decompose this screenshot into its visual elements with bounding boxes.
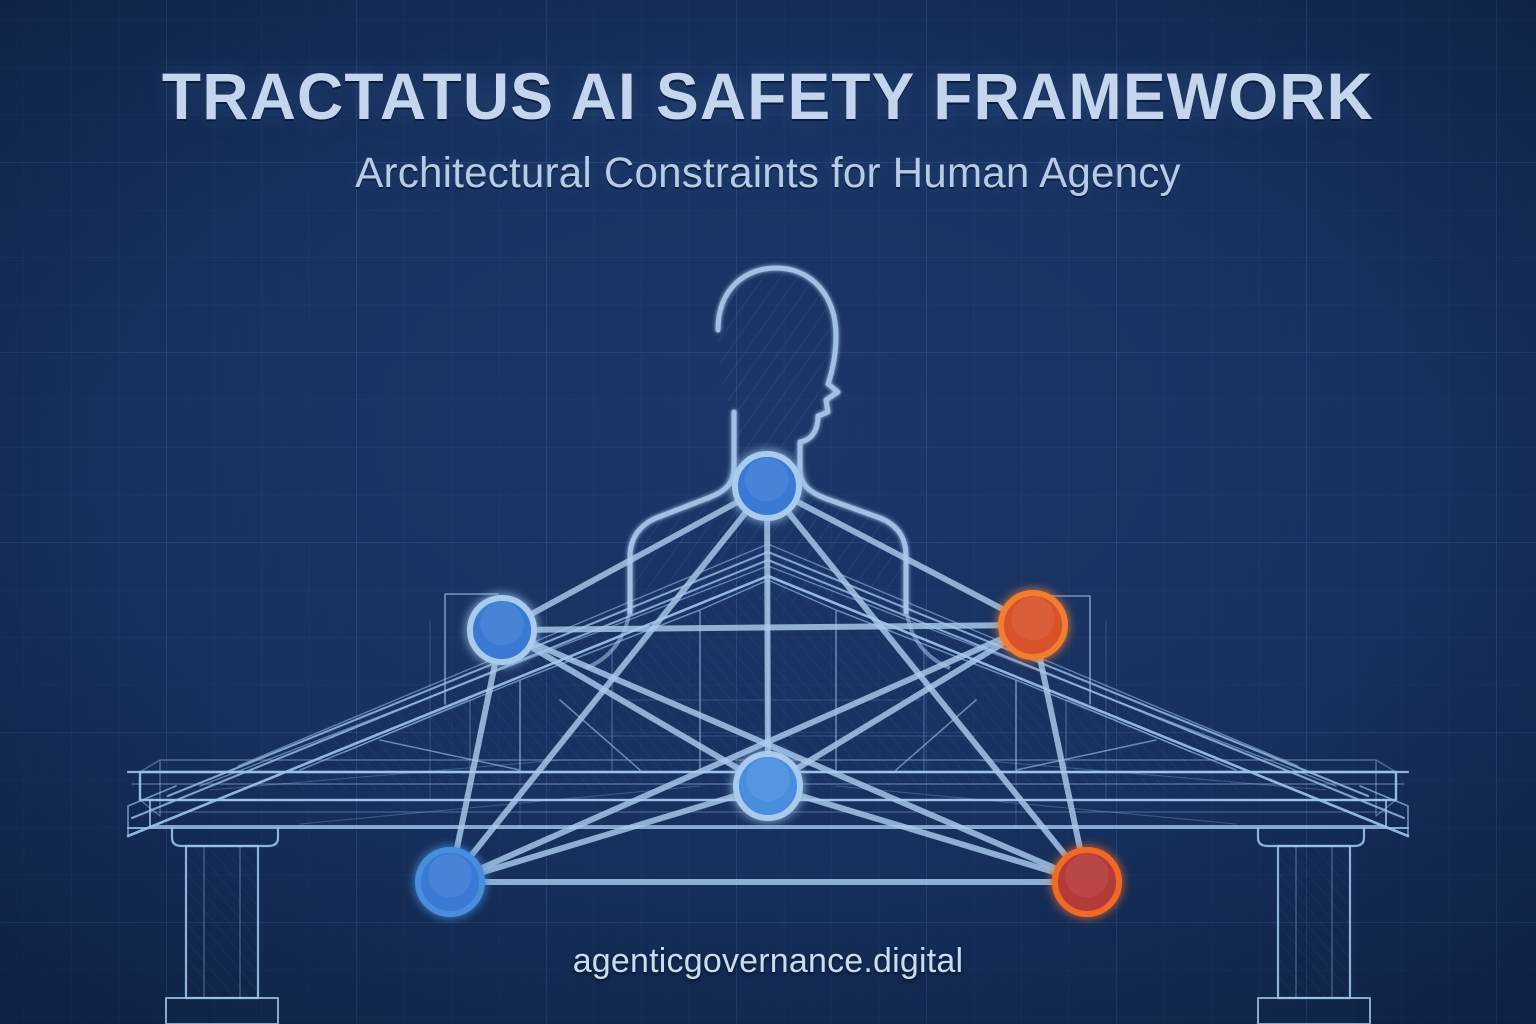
- right-lower-node[interactable]: [1055, 850, 1119, 914]
- graph-edge: [767, 486, 1087, 882]
- footer-website-label: agenticgovernance.digital: [0, 942, 1536, 981]
- poster-canvas: TRACTATUS AI SAFETY FRAMEWORK Architectu…: [0, 0, 1536, 1024]
- node-highlight: [745, 458, 789, 502]
- page-title: TRACTATUS AI SAFETY FRAMEWORK: [23, 62, 1513, 131]
- right-upper-node[interactable]: [1001, 593, 1065, 657]
- graph-edge: [502, 486, 767, 630]
- node-highlight: [1011, 597, 1055, 641]
- node-highlight: [480, 602, 524, 646]
- left-lower-node[interactable]: [418, 850, 482, 914]
- apex-node[interactable]: [735, 454, 799, 518]
- graph-edges: [450, 486, 1087, 882]
- graph-edge: [450, 625, 1033, 882]
- node-highlight: [746, 758, 790, 802]
- graph-edge: [502, 630, 1087, 882]
- graph-edge: [502, 625, 1033, 630]
- poster-heading-block: TRACTATUS AI SAFETY FRAMEWORK Architectu…: [0, 62, 1536, 198]
- page-subtitle: Architectural Constraints for Human Agen…: [15, 149, 1520, 198]
- node-highlight: [428, 854, 472, 898]
- graph-edge: [450, 786, 768, 882]
- center-node[interactable]: [736, 754, 800, 818]
- left-upper-node[interactable]: [470, 598, 534, 662]
- node-highlight: [1065, 854, 1109, 898]
- graph-edge: [1033, 625, 1087, 882]
- graph-edge: [768, 786, 1087, 882]
- graph-edge: [450, 630, 502, 882]
- graph-edge: [767, 486, 1033, 625]
- graph-edge: [450, 486, 767, 882]
